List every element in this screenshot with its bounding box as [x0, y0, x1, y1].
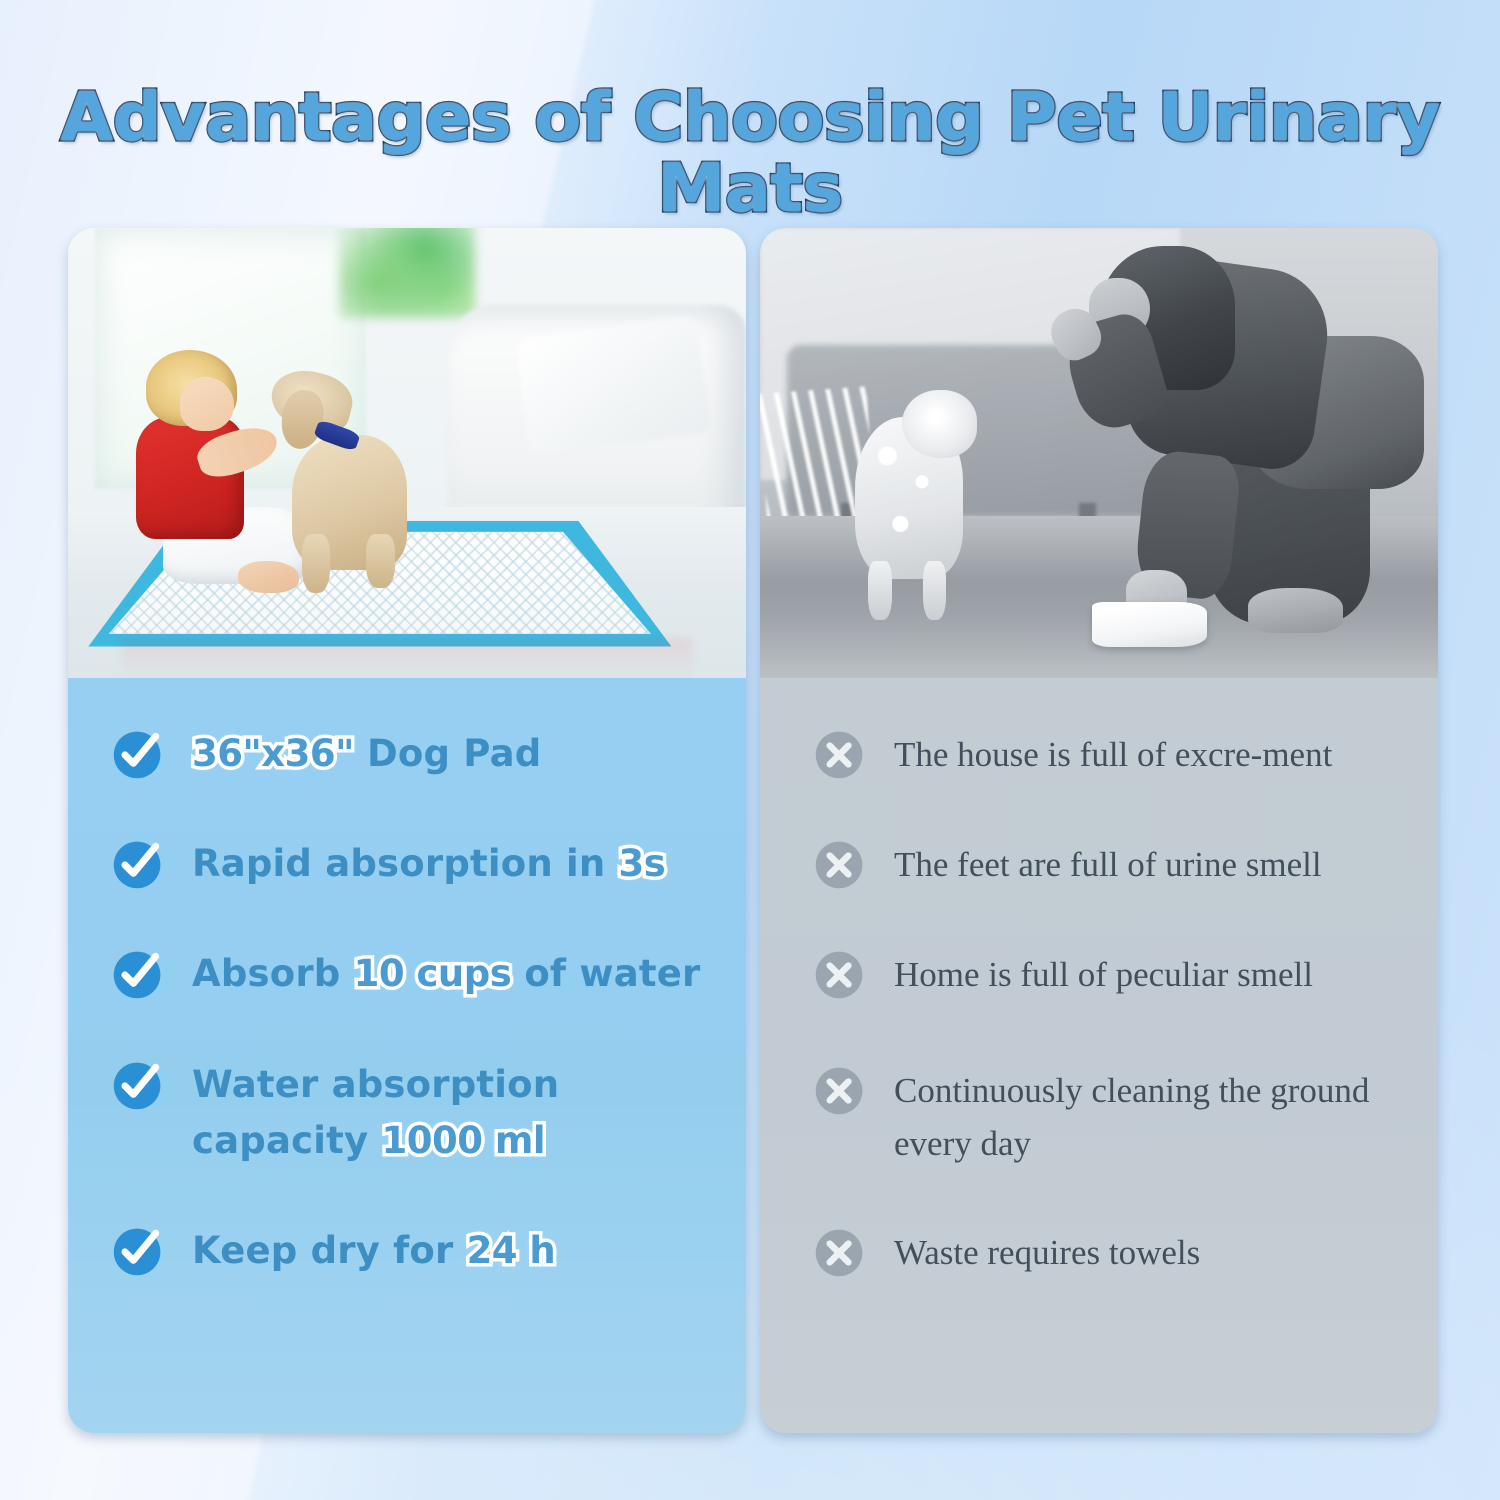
- cushion-shape: [516, 316, 712, 454]
- pro-list-item-text: 36"x36" Dog Pad: [192, 724, 541, 782]
- cross-circle-icon: [812, 726, 868, 782]
- con-list-item: Continuously cleaning the ground every d…: [812, 1060, 1408, 1170]
- pro-prefix-text: Absorb: [192, 952, 354, 995]
- con-list-item-text: Home is full of peculiar smell: [894, 944, 1313, 1001]
- photo-woman-scolding-dog-while-cleaning-floor: [760, 228, 1438, 678]
- plant-decor: [339, 228, 475, 318]
- cross-circle-icon: [812, 1224, 868, 1280]
- cleaning-cloth-shape: [1092, 602, 1207, 647]
- page-title-container: Advantages of Choosing Pet Urinary Mats: [0, 82, 1500, 224]
- check-circle-icon: [110, 946, 166, 1002]
- con-list-item: The feet are full of urine smell: [812, 834, 1408, 892]
- pro-list-item-text: Absorb 10 cups of water: [192, 944, 701, 1002]
- floor-reflection: [122, 638, 692, 679]
- con-list-item-text: Continuously cleaning the ground every d…: [894, 1060, 1408, 1170]
- pro-suffix-text: Dog Pad: [354, 732, 542, 775]
- page-title: Advantages of Choosing Pet Urinary Mats: [0, 82, 1500, 224]
- con-list-item-text: The feet are full of urine smell: [894, 834, 1322, 891]
- pro-panel: 36"x36" Dog Pad Rapid absorption in 3s: [68, 678, 746, 1433]
- dog-front-leg-shape: [868, 561, 891, 620]
- con-list: The house is full of excre-ment The feet…: [790, 724, 1408, 1280]
- pro-suffix-text: of water: [511, 952, 700, 995]
- dog-front-leg-shape: [302, 534, 330, 593]
- pro-list-item-text: Keep dry for 24 h: [192, 1221, 555, 1279]
- con-list-item-text: The house is full of excre-ment: [894, 724, 1332, 781]
- boy-foot-shape: [238, 561, 299, 593]
- pro-prefix-text: Rapid absorption in: [192, 842, 619, 885]
- con-list-item: Waste requires towels: [812, 1222, 1408, 1280]
- woman-shoe-shape: [1248, 588, 1343, 633]
- con-column: The house is full of excre-ment The feet…: [760, 228, 1438, 1433]
- dog-head-shape: [902, 390, 977, 458]
- pro-list: 36"x36" Dog Pad Rapid absorption in 3s: [98, 724, 716, 1279]
- pro-column: 36"x36" Dog Pad Rapid absorption in 3s: [68, 228, 746, 1433]
- pro-list-item: Rapid absorption in 3s: [110, 834, 716, 892]
- cross-circle-icon: [812, 946, 868, 1002]
- pro-list-item: Water absorption capacity 1000 ml: [110, 1055, 716, 1169]
- con-list-item: Home is full of peculiar smell: [812, 944, 1408, 1002]
- pro-list-item: Absorb 10 cups of water: [110, 944, 716, 1002]
- check-circle-icon: [110, 726, 166, 782]
- con-list-item: The house is full of excre-ment: [812, 724, 1408, 782]
- pro-list-item-text: Rapid absorption in 3s: [192, 834, 665, 892]
- photo-boy-playing-with-dog-on-pee-pad: [68, 228, 746, 678]
- pro-list-item-text: Water absorption capacity 1000 ml: [192, 1055, 716, 1169]
- pro-list-item: 36"x36" Dog Pad: [110, 724, 716, 782]
- pro-highlight-value: 36"x36": [192, 732, 354, 775]
- boy-face-shape: [180, 377, 234, 431]
- con-list-item-text: Waste requires towels: [894, 1222, 1200, 1279]
- check-circle-icon: [110, 1223, 166, 1279]
- check-circle-icon: [110, 1057, 166, 1113]
- con-panel: The house is full of excre-ment The feet…: [760, 678, 1438, 1433]
- cross-circle-icon: [812, 836, 868, 892]
- pro-prefix-text: Keep dry for: [192, 1229, 467, 1272]
- pro-list-item: Keep dry for 24 h: [110, 1221, 716, 1279]
- dog-back-leg-shape: [923, 561, 946, 620]
- pro-highlight-value: 10 cups: [354, 952, 512, 995]
- infographic-canvas: Advantages of Choosing Pet Urinary Mats: [0, 0, 1500, 1500]
- pro-highlight-value: 3s: [619, 842, 666, 885]
- pro-highlight-value: 24 h: [467, 1229, 556, 1272]
- pro-highlight-value: 1000 ml: [381, 1119, 545, 1162]
- check-circle-icon: [110, 836, 166, 892]
- comparison-columns: 36"x36" Dog Pad Rapid absorption in 3s: [68, 228, 1438, 1433]
- dog-back-leg-shape: [366, 534, 394, 588]
- cross-circle-icon: [812, 1062, 868, 1118]
